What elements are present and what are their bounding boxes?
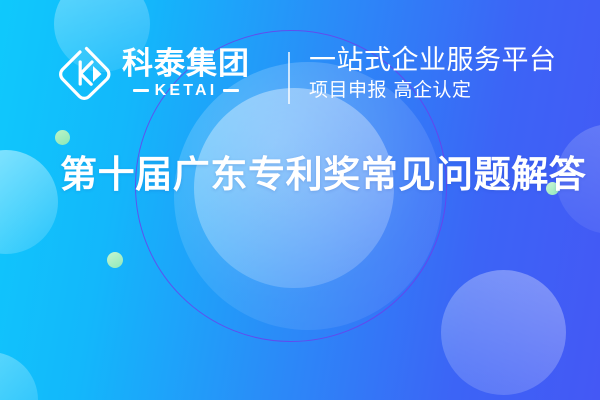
brand-name-en-row: KETAI — [122, 82, 250, 99]
dash-right-icon — [223, 89, 239, 92]
brand-logo: 科泰集团 KETAI — [57, 44, 250, 102]
tagline-secondary: 项目申报 高企认定 — [309, 77, 569, 103]
banner-title: 第十届广东专利奖常见问题解答 — [60, 152, 550, 198]
tagline-primary: 一站式企业服务平台 — [309, 44, 569, 77]
ketai-diamond-kd-logo-icon — [57, 44, 113, 102]
decor-dot-green-left — [55, 130, 70, 145]
tagline-block: 一站式企业服务平台 项目申报 高企认定 — [309, 44, 569, 103]
decor-circle-bottom-right — [441, 270, 566, 395]
brand-logo-wordmark: 科泰集团 KETAI — [122, 47, 250, 99]
decor-circle-left-edge-lower — [0, 352, 38, 400]
promo-banner: 科泰集团 KETAI 一站式企业服务平台 项目申报 高企认定 第十届广东专利奖常… — [0, 0, 600, 400]
decor-dot-green-lower-left — [107, 252, 123, 268]
dash-left-icon — [133, 89, 149, 92]
brand-name-en: KETAI — [155, 82, 218, 99]
decor-circle-left-edge — [0, 150, 58, 254]
vertical-divider — [288, 52, 290, 104]
brand-name-cn: 科泰集团 — [122, 47, 250, 81]
